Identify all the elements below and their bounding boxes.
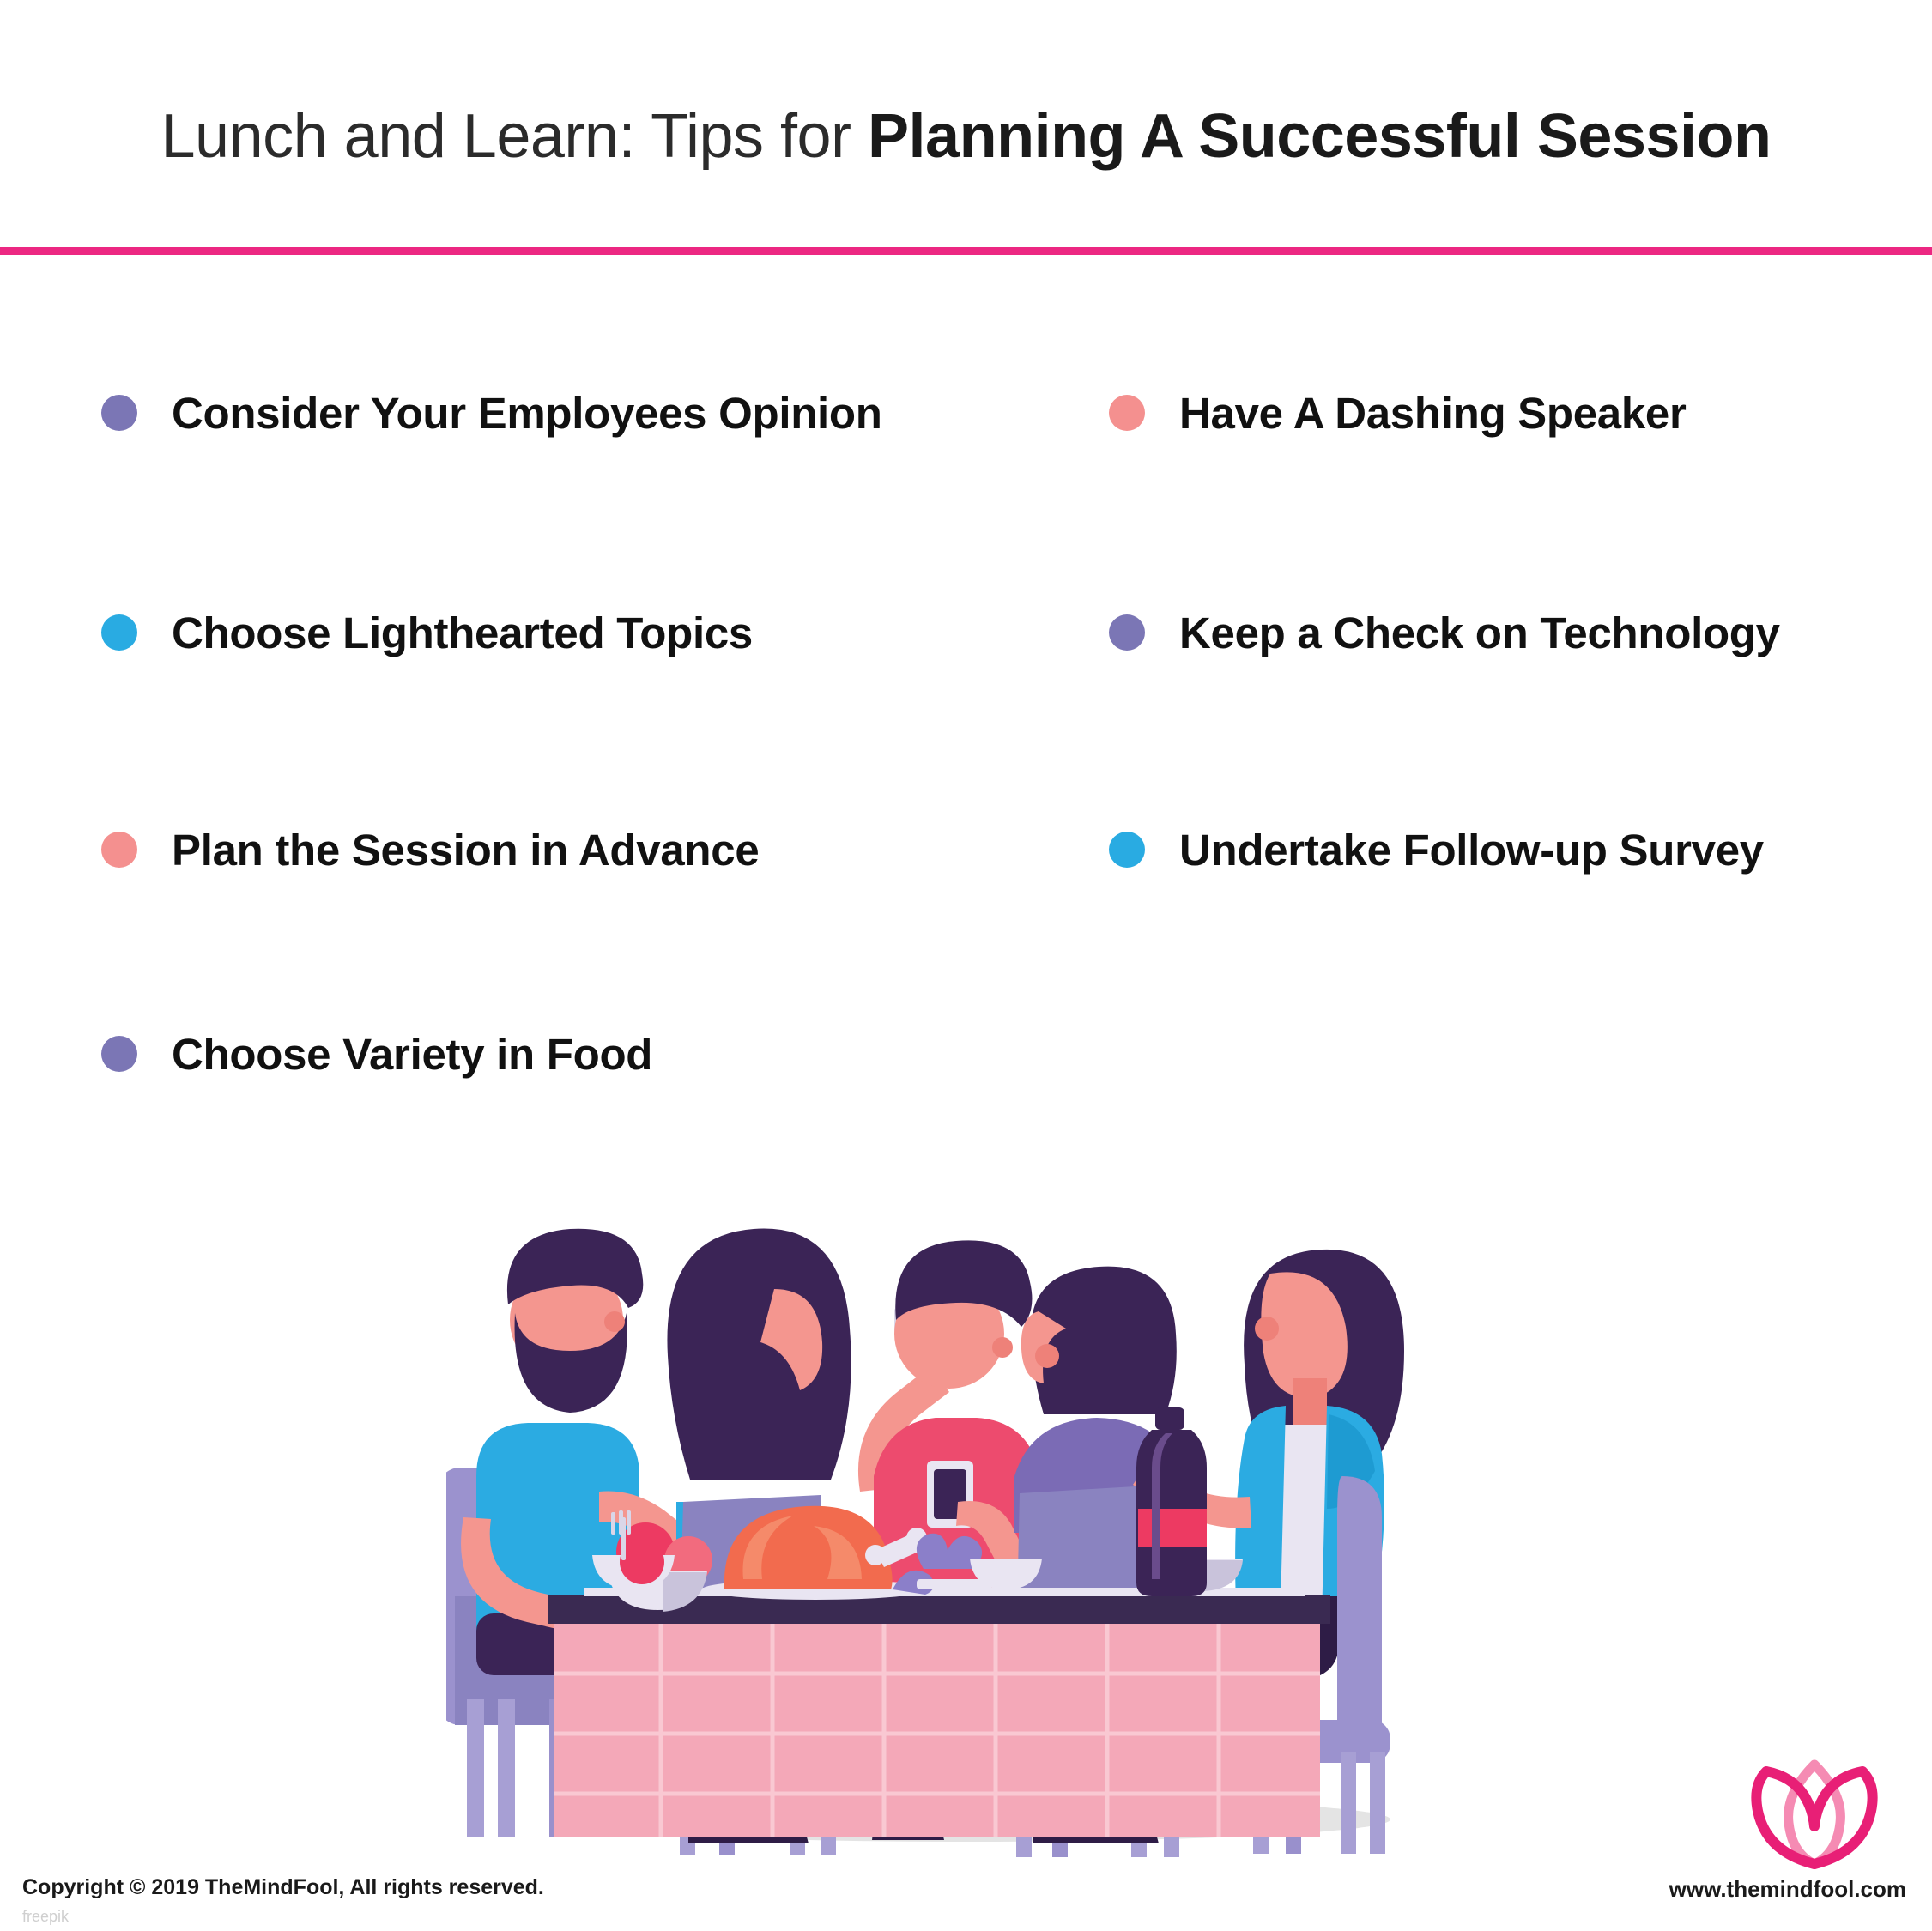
tip-label: Keep a Check on Technology — [1179, 611, 1780, 655]
purple-bullet-icon — [101, 395, 137, 431]
tip-item[interactable]: Choose Variety in Food — [101, 1029, 1080, 1079]
tips-left-column: Consider Your Employees Opinion Choose L… — [101, 388, 1080, 1079]
soda-bottle — [1136, 1407, 1207, 1596]
tip-label: Plan the Session in Advance — [172, 828, 759, 872]
salmon-bullet-icon — [101, 832, 137, 868]
tip-item[interactable]: Keep a Check on Technology — [1109, 608, 1932, 657]
purple-bullet-icon — [1109, 614, 1145, 651]
tip-label: Choose Lighthearted Topics — [172, 611, 753, 655]
page-title: Lunch and Learn: Tips for Planning A Suc… — [0, 101, 1932, 172]
tip-label: Undertake Follow-up Survey — [1179, 828, 1764, 872]
tips-right-column: Have A Dashing Speaker Keep a Check on T… — [1109, 388, 1932, 875]
tip-label: Have A Dashing Speaker — [1179, 391, 1687, 435]
tip-item[interactable]: Plan the Session in Advance — [101, 825, 1080, 875]
tip-item[interactable]: Choose Lighthearted Topics — [101, 608, 1080, 657]
cyan-bullet-icon — [101, 614, 137, 651]
website-url[interactable]: www.themindfool.com — [1669, 1876, 1906, 1903]
lotus-logo-icon — [1750, 1759, 1879, 1869]
tip-item[interactable]: Consider Your Employees Opinion — [101, 388, 1080, 438]
tip-item[interactable]: Undertake Follow-up Survey — [1109, 825, 1932, 875]
tip-item[interactable]: Have A Dashing Speaker — [1109, 388, 1932, 438]
salmon-bullet-icon — [1109, 395, 1145, 431]
purple-bullet-icon — [101, 1036, 137, 1072]
header-divider-bar — [0, 247, 1932, 255]
title-bold-part: Planning A Successful Session — [868, 102, 1771, 171]
dining-table — [548, 1588, 1330, 1837]
infographic-page: Lunch and Learn: Tips for Planning A Suc… — [0, 0, 1932, 1931]
tip-label: Consider Your Employees Opinion — [172, 391, 882, 435]
freepik-attribution: freepik — [22, 1908, 69, 1926]
copyright-text: Copyright © 2019 TheMindFool, All rights… — [22, 1875, 544, 1900]
tip-label: Choose Variety in Food — [172, 1032, 652, 1076]
cyan-bullet-icon — [1109, 832, 1145, 868]
title-light-part: Lunch and Learn: Tips for — [160, 102, 868, 171]
dining-table-illustration — [446, 1219, 1493, 1871]
